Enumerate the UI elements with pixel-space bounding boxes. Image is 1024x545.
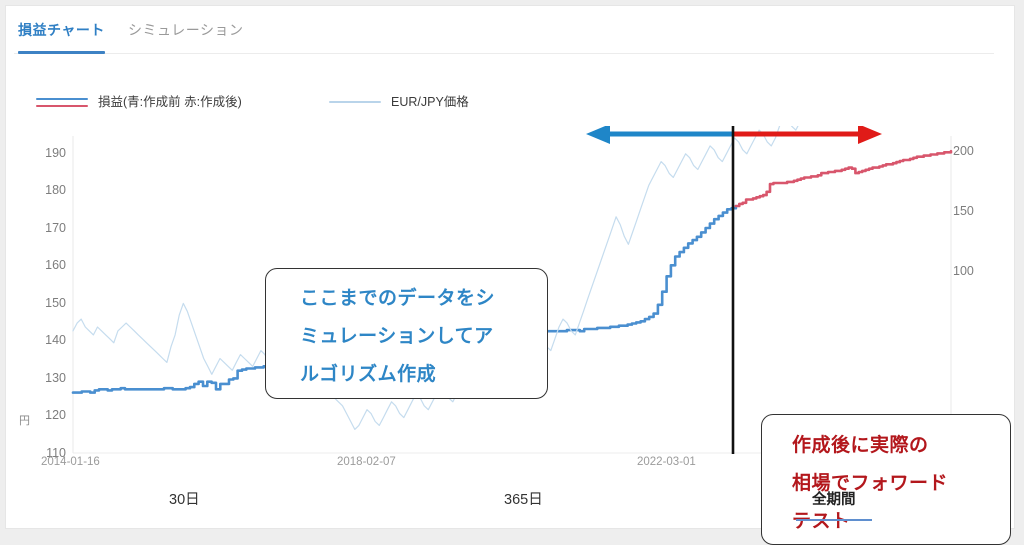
callout-simulation-line: ミュレーションしてア xyxy=(300,318,547,356)
range-selector: 30日 365日 全期間 xyxy=(6,488,1016,524)
legend-item-price-label: EUR/JPY価格 xyxy=(391,94,469,110)
range-all[interactable]: 全期間 xyxy=(812,488,856,509)
legend-item-pnl-label: 損益(青:作成前 赤:作成後) xyxy=(98,94,242,110)
chart-plot-region: 円 190 180 170 160 150 140 130 120 110 20… xyxy=(6,126,1016,471)
tab-profit-chart-label: 損益チャート xyxy=(18,22,105,38)
callout-simulation-line: ルゴリズム作成 xyxy=(300,356,547,394)
tab-simulation-label: シミュレーション xyxy=(128,22,243,38)
series-pnl-after xyxy=(736,151,951,206)
blue-left-arrow xyxy=(586,126,733,144)
tab-profit-chart[interactable]: 損益チャート xyxy=(18,18,105,52)
range-365d-label: 365日 xyxy=(504,492,543,508)
range-30d[interactable]: 30日 xyxy=(169,488,200,509)
double-line-swatch-icon xyxy=(36,94,88,110)
chart-card: 損益チャート シミュレーション 損益(青:作成前 赤:作成後) EUR/JPY価… xyxy=(5,5,1015,529)
tab-active-underline xyxy=(18,51,105,54)
red-right-arrow xyxy=(733,126,882,144)
range-365d[interactable]: 365日 xyxy=(504,488,543,509)
callout-forwardtest: 作成後に実際の 相場でフォワード テスト xyxy=(761,414,1011,545)
callout-forwardtest-line: 作成後に実際の xyxy=(792,427,1010,465)
line-swatch-icon xyxy=(329,94,381,110)
range-all-label: 全期間 xyxy=(812,492,856,508)
range-active-underline xyxy=(796,519,872,522)
tab-bar: 損益チャート シミュレーション xyxy=(6,18,1016,54)
tab-bar-divider xyxy=(14,53,994,54)
tab-simulation[interactable]: シミュレーション xyxy=(128,18,243,52)
chart-legend: 損益(青:作成前 赤:作成後) EUR/JPY価格 xyxy=(6,92,1016,116)
range-30d-label: 30日 xyxy=(169,492,200,508)
callout-simulation-line: ここまでのデータをシ xyxy=(300,280,547,318)
callout-simulation: ここまでのデータをシ ミュレーションしてア ルゴリズム作成 xyxy=(265,268,548,399)
